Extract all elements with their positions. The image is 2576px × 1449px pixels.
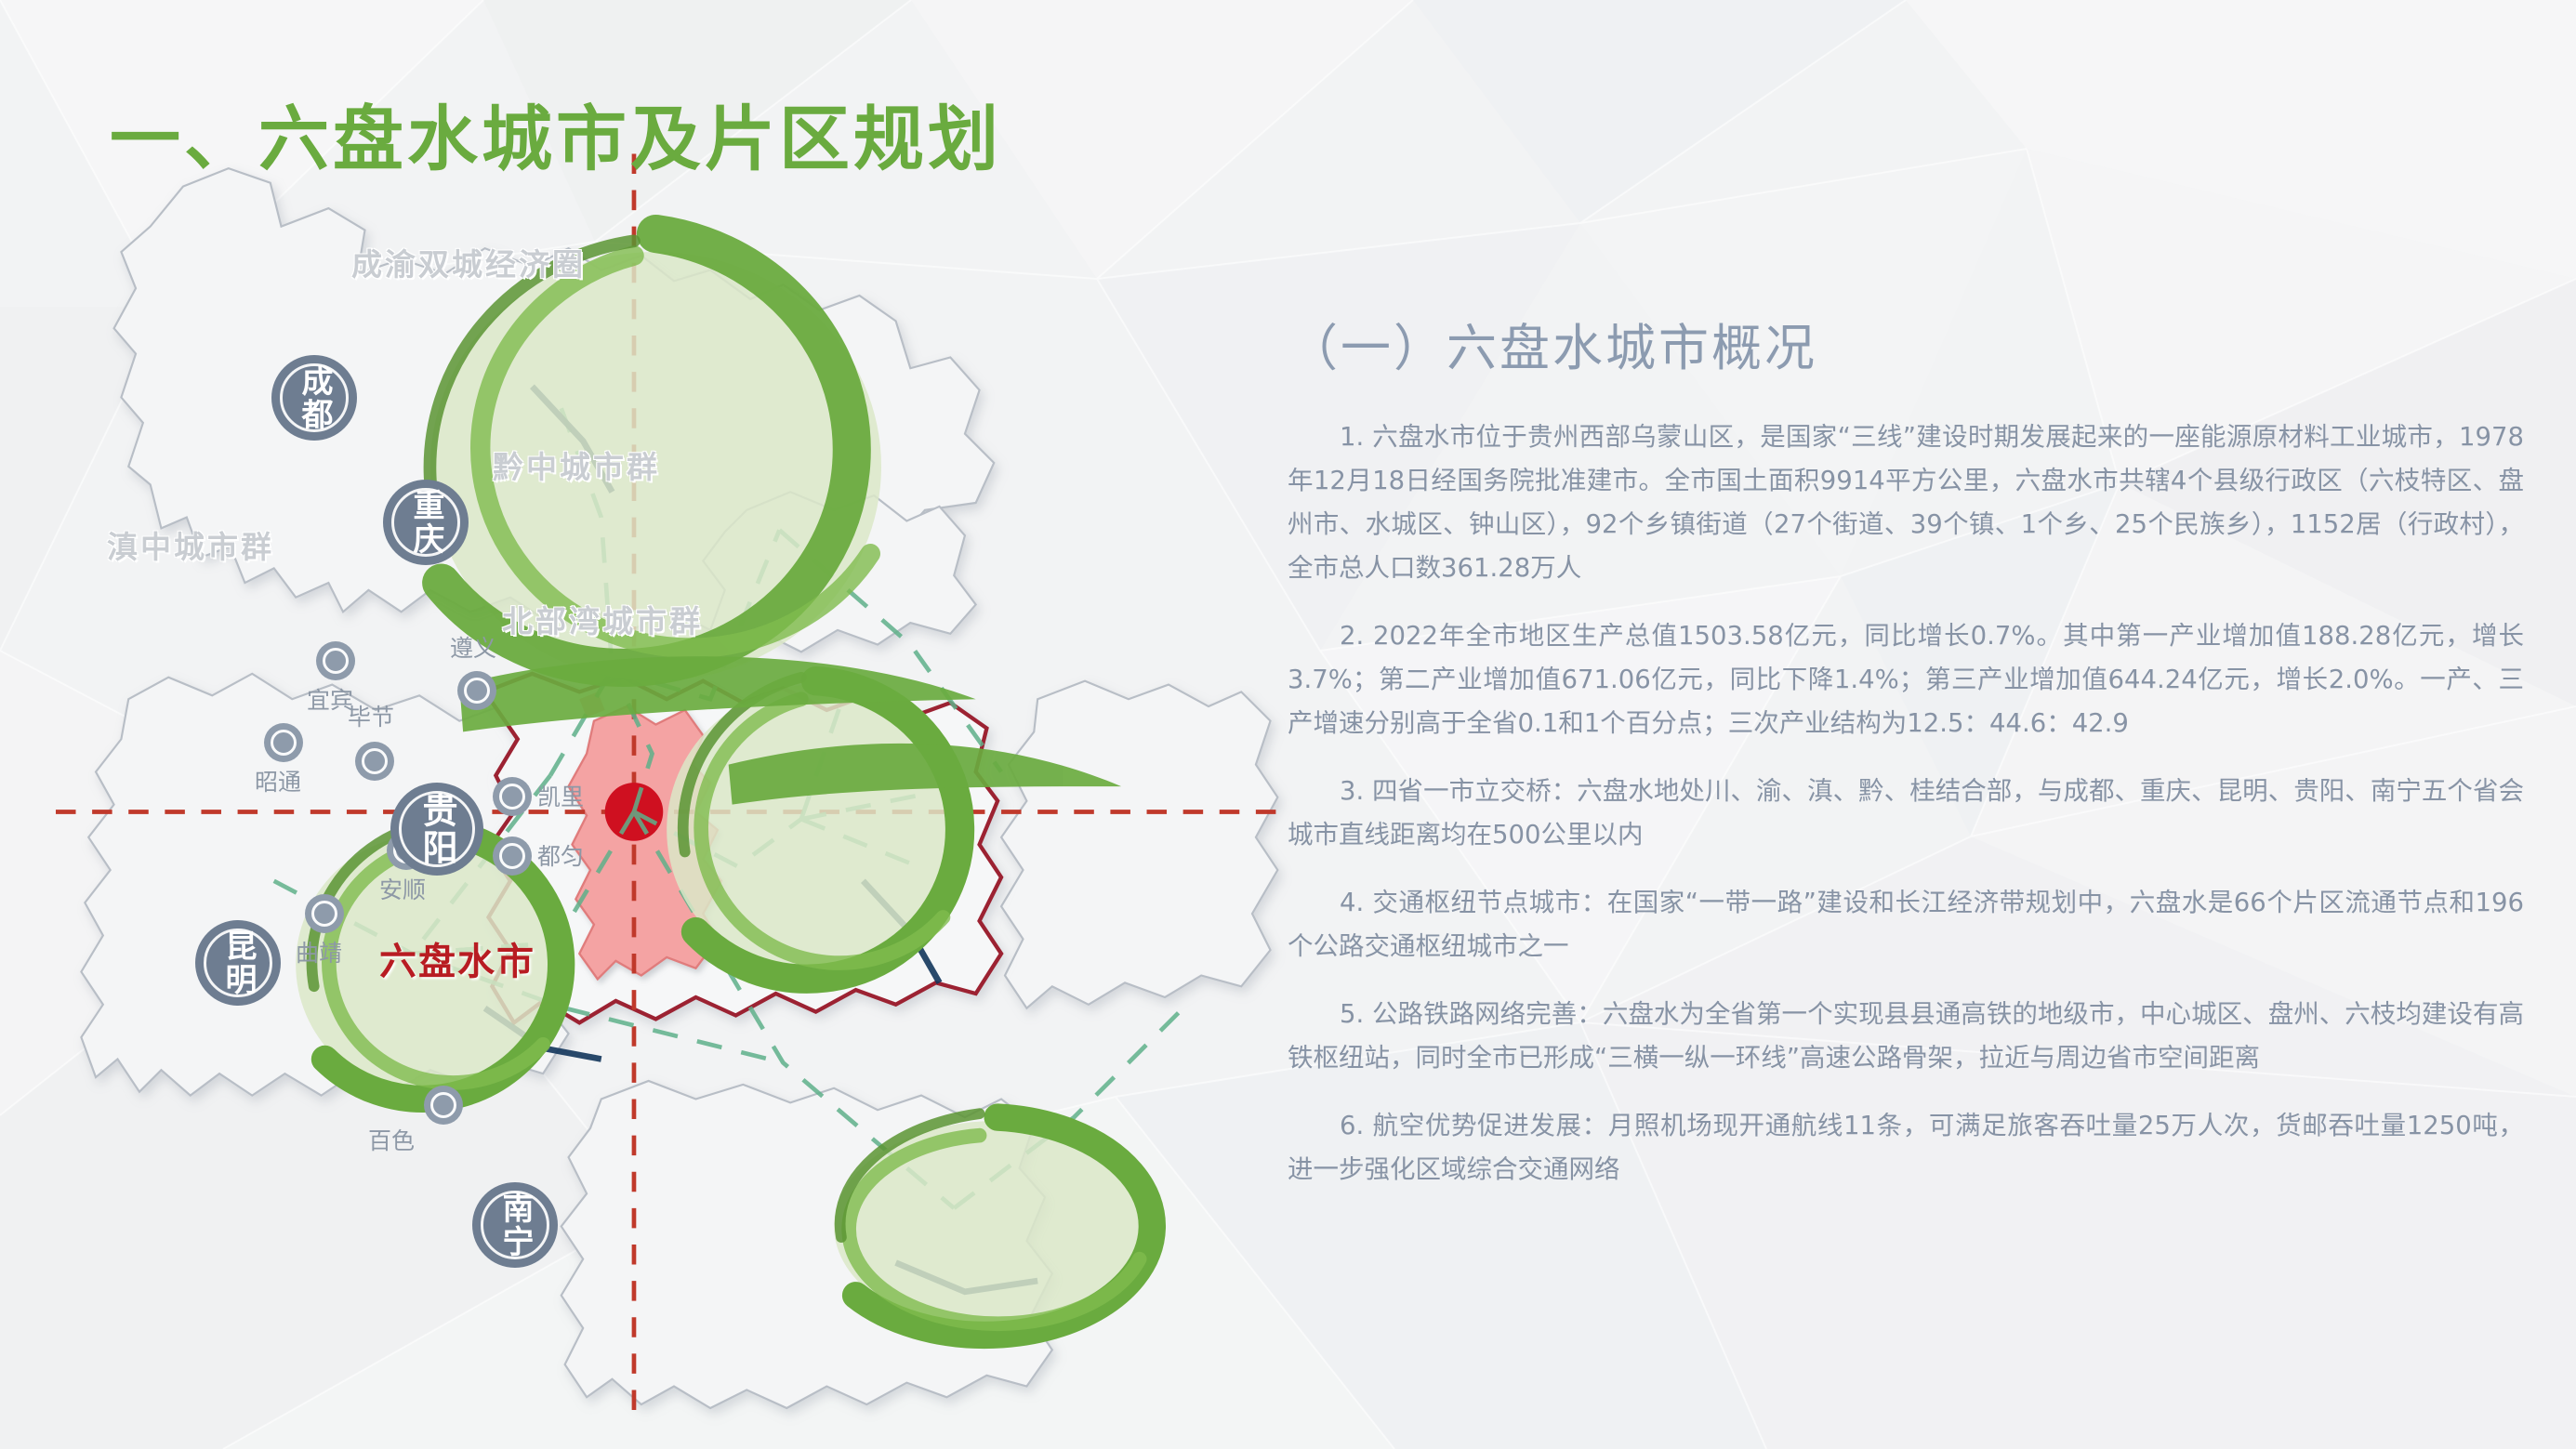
- content-column: （一）六盘水城市概况 1. 六盘水市位于贵州西部乌蒙山区，是国家“三线”建设时期…: [1288, 307, 2524, 1216]
- page-title: 一、六盘水城市及片区规划: [110, 82, 1002, 184]
- city-marker-guiyang[interactable]: 贵阳: [390, 783, 483, 876]
- paragraph-2: 2. 2022年全市地区生产总值1503.58亿元，同比增长0.7%。其中第一产…: [1288, 614, 2524, 745]
- map-svg: [56, 139, 1292, 1441]
- city-dot-bijie[interactable]: [355, 742, 394, 781]
- city-marker-chengdu[interactable]: 成都: [271, 355, 357, 441]
- city-dot-label-duyun: 都匀: [537, 838, 584, 872]
- paragraph-1: 1. 六盘水市位于贵州西部乌蒙山区，是国家“三线”建设时期发展起来的一座能源原材…: [1288, 415, 2524, 590]
- city-dot-zunyi[interactable]: [457, 671, 496, 710]
- focus-city-label-liupanshui: 六盘水市: [379, 931, 535, 985]
- city-dot-label-kaili: 凯里: [537, 779, 584, 812]
- city-label-chongqing: 重庆: [410, 489, 442, 556]
- cluster-beibuwan: [834, 1113, 1161, 1335]
- region-map: 成渝双城经济圈 黔中城市群 滇中城市群 北部湾城市群 成都 重庆 贵阳 昆明 南…: [56, 139, 1292, 1441]
- city-marker-kunming[interactable]: 昆明: [195, 920, 281, 1006]
- city-label-guiyang: 贵阳: [419, 792, 455, 866]
- city-marker-nanning[interactable]: 南宁: [472, 1182, 558, 1268]
- city-label-nanning: 南宁: [499, 1192, 531, 1258]
- city-label-kunming: 昆明: [222, 929, 254, 996]
- city-label-chengdu: 成都: [298, 364, 330, 431]
- section-heading: （一）六盘水城市概况: [1288, 307, 2524, 380]
- cluster-chengyu: [429, 234, 881, 681]
- city-dot-label-baise: 百色: [368, 1123, 415, 1156]
- city-dot-label-zunyi: 遵义: [450, 630, 496, 664]
- paragraph-5: 5. 公路铁路网络完善：六盘水为全省第一个实现县县通高铁的地级市，中心城区、盘州…: [1288, 993, 2524, 1080]
- paragraph-6: 6. 航空优势促进发展：月照机场现开通航线11条，可满足旅客吞吐量25万人次，货…: [1288, 1104, 2524, 1192]
- city-dot-baise[interactable]: [424, 1086, 463, 1125]
- city-dot-duyun[interactable]: [493, 836, 532, 876]
- city-dot-zhaotong[interactable]: [264, 723, 303, 762]
- city-dot-yibin[interactable]: [316, 641, 355, 680]
- paragraph-4: 4. 交通枢纽节点城市：在国家“一带一路”建设和长江经济带规划中，六盘水是66个…: [1288, 881, 2524, 968]
- paragraph-3: 3. 四省一市立交桥：六盘水地处川、渝、滇、黔、桂结合部，与成都、重庆、昆明、贵…: [1288, 770, 2524, 857]
- city-marker-chongqing[interactable]: 重庆: [383, 480, 469, 565]
- city-dot-label-yibin: 宜宾: [307, 682, 353, 716]
- city-dot-kaili[interactable]: [493, 777, 532, 816]
- city-dot-label-bijie: 毕节: [348, 699, 394, 732]
- city-dot-label-qujing: 曲靖: [296, 935, 342, 968]
- city-dot-qujing[interactable]: [305, 894, 344, 933]
- city-dot-label-anshun: 安顺: [379, 872, 426, 905]
- city-dot-label-zhaotong: 昭通: [255, 764, 301, 797]
